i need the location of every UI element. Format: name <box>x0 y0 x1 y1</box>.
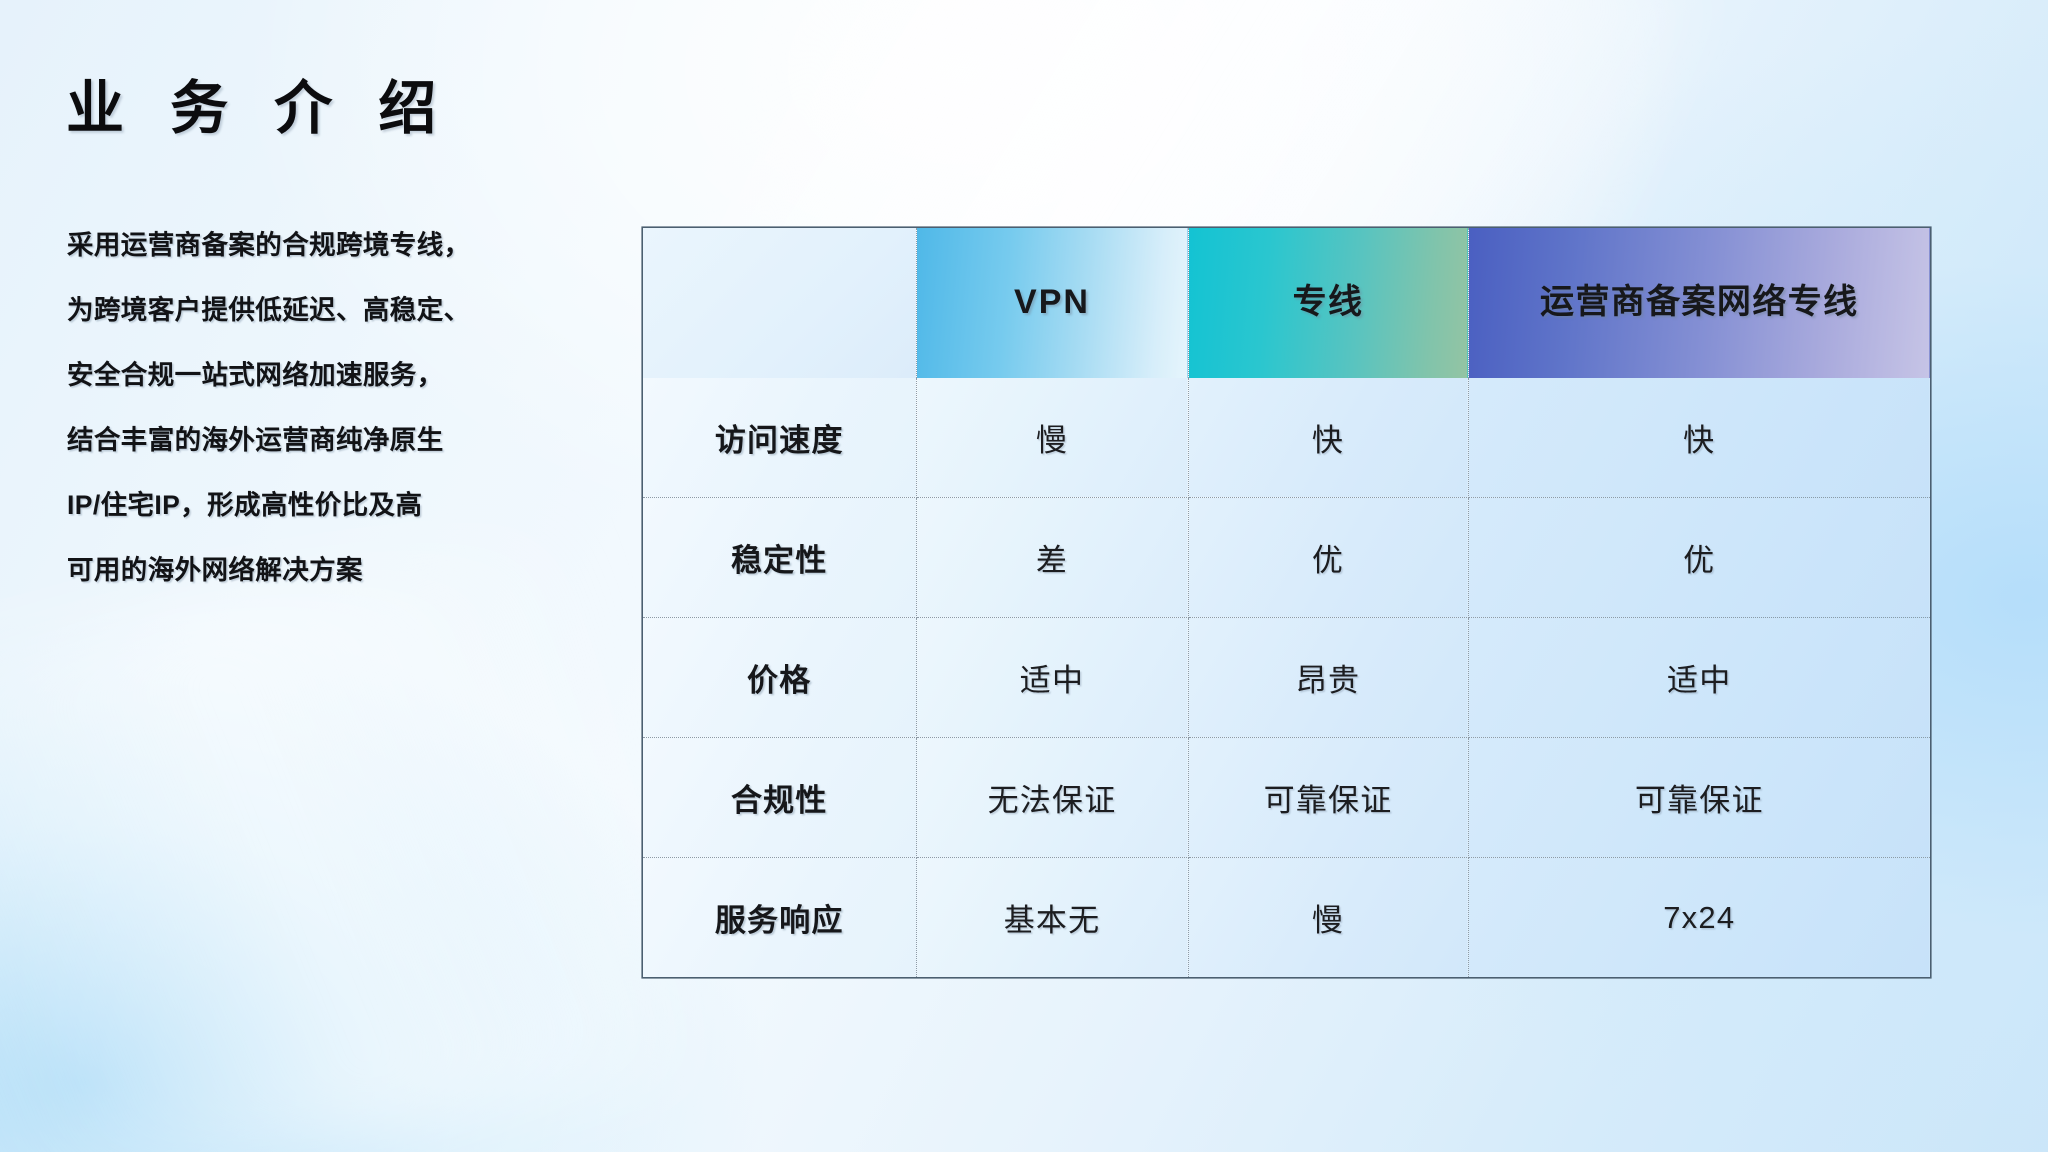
row-value: 快 <box>1683 423 1715 458</box>
row-value: 可靠保证 <box>1264 783 1393 818</box>
row-value-cell-vpn: 差 <box>916 498 1188 618</box>
row-value: 适中 <box>1667 663 1731 698</box>
table-header-row: VPN 专线 运营商备案网络专线 <box>643 228 1930 378</box>
table-header-carrier-line: 运营商备案网络专线 <box>1468 228 1930 378</box>
table-row: 稳定性 差 优 优 <box>643 498 1930 618</box>
description-line: 结合丰富的海外运营商纯净原生 <box>67 427 627 454</box>
description-line: 可用的海外网络解决方案 <box>67 557 627 584</box>
row-value-cell-dedicated-line: 慢 <box>1188 858 1468 978</box>
row-label-cell: 服务响应 <box>643 858 916 978</box>
row-value-cell-vpn: 慢 <box>916 378 1188 498</box>
description-line: IP/住宅IP，形成高性价比及高 <box>67 492 627 519</box>
description-line: 采用运营商备案的合规跨境专线， <box>67 232 627 259</box>
row-label: 价格 <box>747 663 811 698</box>
description-line: 安全合规一站式网络加速服务， <box>67 362 627 389</box>
row-value-cell-carrier-line: 优 <box>1468 498 1930 618</box>
row-label: 稳定性 <box>731 543 828 578</box>
row-value-cell-carrier-line: 可靠保证 <box>1468 738 1930 858</box>
table-header-dedicated-line-label: 专线 <box>1189 284 1468 321</box>
row-value: 优 <box>1312 543 1344 578</box>
row-value-cell-dedicated-line: 昂贵 <box>1188 618 1468 738</box>
row-value-cell-carrier-line: 快 <box>1468 378 1930 498</box>
row-value: 快 <box>1312 423 1344 458</box>
table-header-vpn: VPN <box>916 228 1188 378</box>
row-value: 7x24 <box>1663 900 1735 935</box>
row-value: 适中 <box>1020 663 1084 698</box>
description-block: 采用运营商备案的合规跨境专线， 为跨境客户提供低延迟、高稳定、 安全合规一站式网… <box>67 232 627 584</box>
row-value: 无法保证 <box>988 783 1117 818</box>
row-value: 昂贵 <box>1296 663 1360 698</box>
row-label: 服务响应 <box>715 903 844 938</box>
row-label-cell: 合规性 <box>643 738 916 858</box>
row-value-cell-dedicated-line: 可靠保证 <box>1188 738 1468 858</box>
table-row: 访问速度 慢 快 快 <box>643 378 1930 498</box>
table-header-blank <box>643 228 916 378</box>
row-value-cell-vpn: 无法保证 <box>916 738 1188 858</box>
table-header-vpn-label: VPN <box>917 284 1188 321</box>
table-row: 价格 适中 昂贵 适中 <box>643 618 1930 738</box>
row-label-cell: 稳定性 <box>643 498 916 618</box>
row-value: 差 <box>1036 543 1068 578</box>
row-value: 慢 <box>1036 423 1068 458</box>
row-value: 基本无 <box>1004 903 1101 938</box>
page-title: 业 务 介 绍 <box>66 61 451 145</box>
slide-canvas: 业 务 介 绍 采用运营商备案的合规跨境专线， 为跨境客户提供低延迟、高稳定、 … <box>0 0 2048 1152</box>
row-value-cell-carrier-line: 7x24 <box>1468 858 1930 978</box>
comparison-table: VPN 专线 运营商备案网络专线 访问速度 慢 快 <box>643 228 1930 977</box>
row-label: 合规性 <box>731 783 828 818</box>
row-value-cell-carrier-line: 适中 <box>1468 618 1930 738</box>
row-value-cell-vpn: 基本无 <box>916 858 1188 978</box>
table-row: 合规性 无法保证 可靠保证 可靠保证 <box>643 738 1930 858</box>
row-value-cell-dedicated-line: 快 <box>1188 378 1468 498</box>
table-header-dedicated-line: 专线 <box>1188 228 1468 378</box>
description-line: 为跨境客户提供低延迟、高稳定、 <box>67 297 627 324</box>
table-header-carrier-line-label: 运营商备案网络专线 <box>1469 284 1931 321</box>
table-row: 服务响应 基本无 慢 7x24 <box>643 858 1930 978</box>
background-sheen-bottom <box>0 526 687 1152</box>
row-value: 可靠保证 <box>1635 783 1764 818</box>
row-label-cell: 访问速度 <box>643 378 916 498</box>
row-value-cell-vpn: 适中 <box>916 618 1188 738</box>
row-label: 访问速度 <box>715 423 844 458</box>
row-value: 慢 <box>1312 903 1344 938</box>
row-value: 优 <box>1683 543 1715 578</box>
row-value-cell-dedicated-line: 优 <box>1188 498 1468 618</box>
row-label-cell: 价格 <box>643 618 916 738</box>
